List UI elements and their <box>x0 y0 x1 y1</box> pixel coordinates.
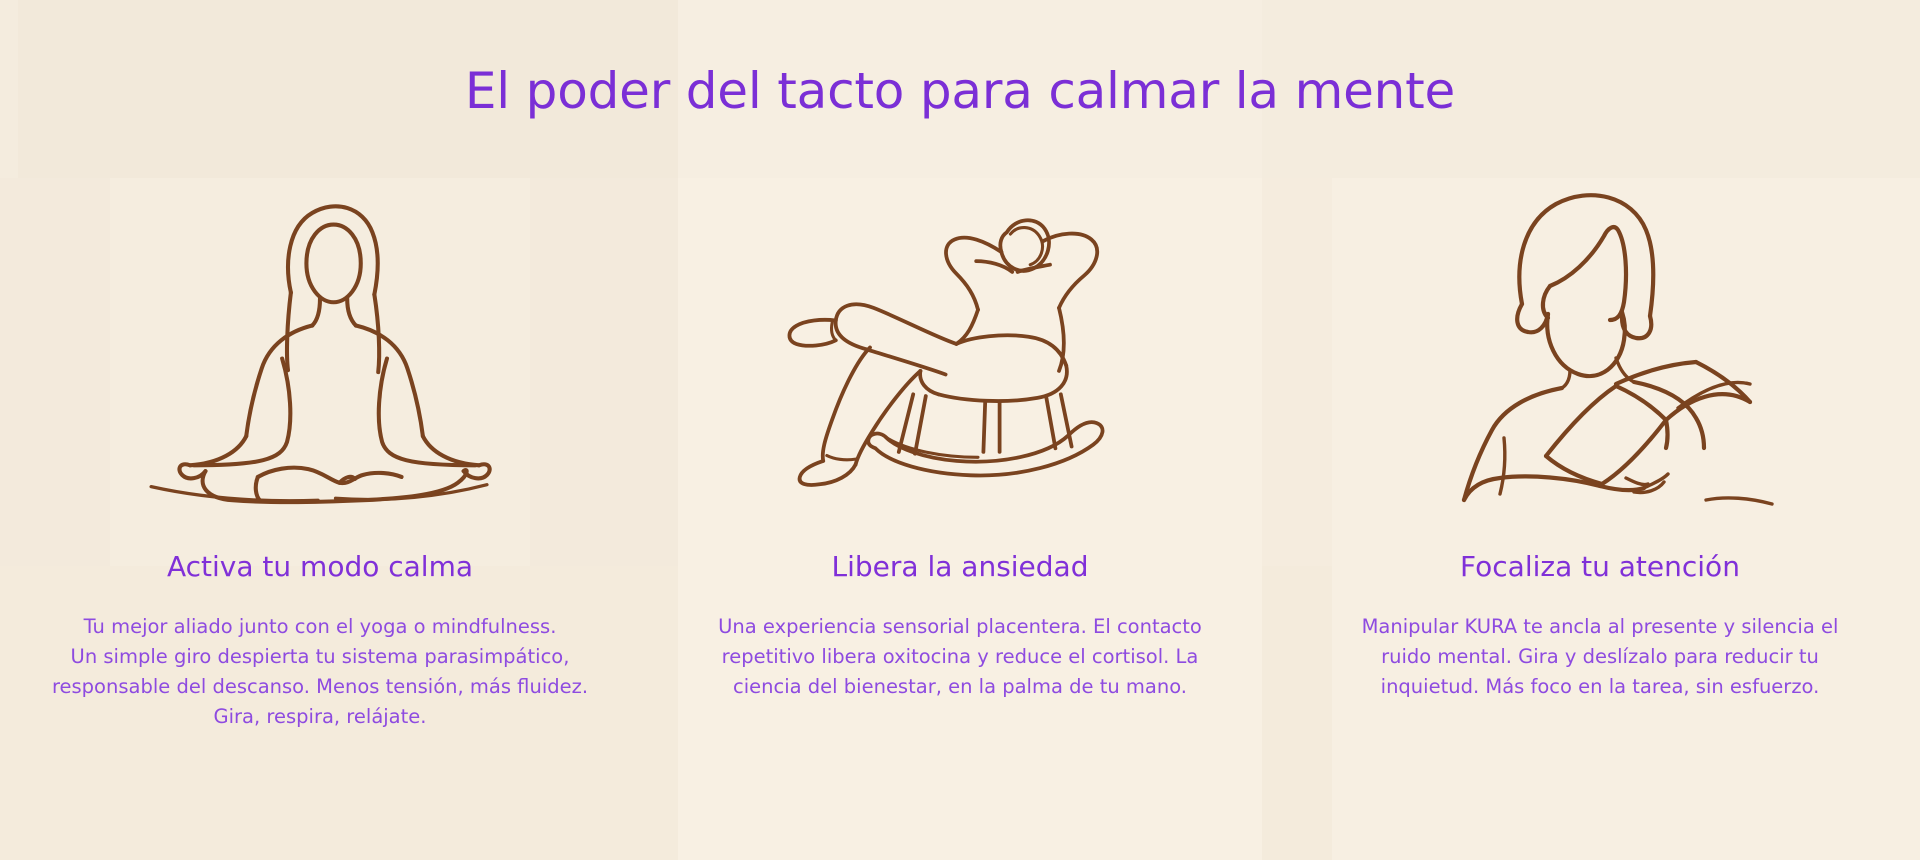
card-heading-3: Focaliza tu atención <box>1460 550 1740 584</box>
feature-column-3: Focaliza tu atención Manipular KURA te a… <box>1280 178 1920 732</box>
feature-column-2: Libera la ansiedad Una experiencia senso… <box>640 178 1280 732</box>
meditating-woman-lotus-illustration <box>140 178 500 508</box>
page-title: El poder del tacto para calmar la mente <box>0 64 1920 119</box>
card-body-3: Manipular KURA te ancla al presente y si… <box>1330 612 1870 703</box>
feature-column-1: Activa tu modo calma Tu mejor aliado jun… <box>0 178 640 732</box>
feature-columns: Activa tu modo calma Tu mejor aliado jun… <box>0 178 1920 732</box>
card-heading-2: Libera la ansiedad <box>832 550 1089 584</box>
card-heading-1: Activa tu modo calma <box>167 550 473 584</box>
woman-in-rocking-chair-illustration <box>780 178 1140 508</box>
card-body-1: Tu mejor aliado junto con el yoga o mind… <box>20 612 620 733</box>
woman-reading-book-illustration <box>1420 178 1780 508</box>
card-body-2: Una experiencia sensorial placentera. El… <box>695 612 1225 703</box>
